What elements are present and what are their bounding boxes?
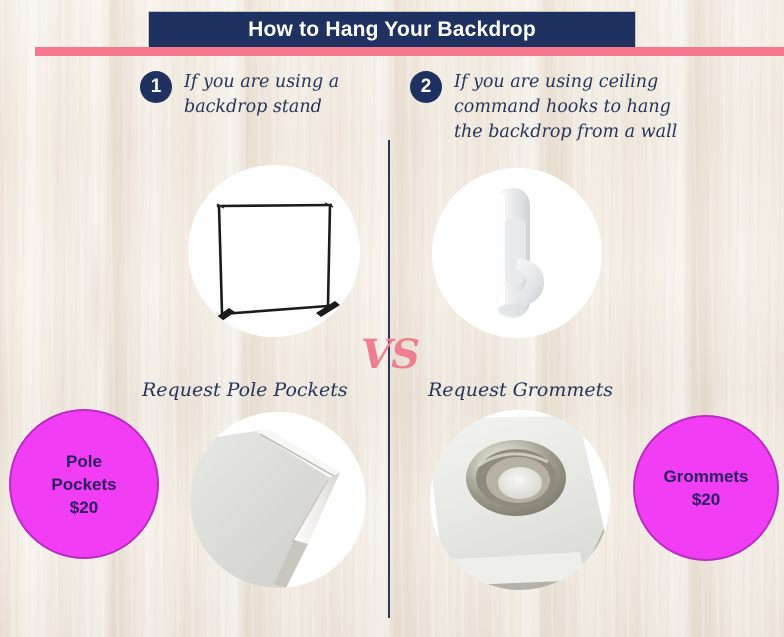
step-1-caption: If you are using a backdrop stand [184,70,339,120]
step-1-header: 1 If you are using a backdrop stand [140,70,339,120]
request-pole-pockets-label: Request Pole Pockets [142,379,348,401]
pole-pocket-fabric-photo [190,412,366,588]
step-2-number-badge: 2 [410,71,442,103]
step-2-caption: If you are using ceiling command hooks t… [454,70,677,145]
backdrop-stand-photo [188,165,360,337]
grommet-fabric-photo [430,410,610,590]
grommets-price-bubble: Grommets $20 [633,415,779,561]
pink-divider-rule [35,47,784,56]
step-1-number-badge: 1 [140,71,172,103]
vs-label: VS [352,333,428,377]
pole-pockets-price-bubble: Pole Pockets $20 [9,409,159,559]
pole-pockets-price-text: Pole Pockets $20 [51,450,116,519]
request-grommets-label: Request Grommets [428,379,613,401]
command-hook-photo [432,168,602,338]
step-2-header: 2 If you are using ceiling command hooks… [410,70,677,145]
page-title: How to Hang Your Backdrop [248,18,536,42]
column-divider [388,140,390,618]
title-banner: How to Hang Your Backdrop [148,11,636,48]
grommets-price-text: Grommets $20 [663,465,748,511]
infographic-canvas: How to Hang Your Backdrop 1 If you are u… [0,0,784,637]
